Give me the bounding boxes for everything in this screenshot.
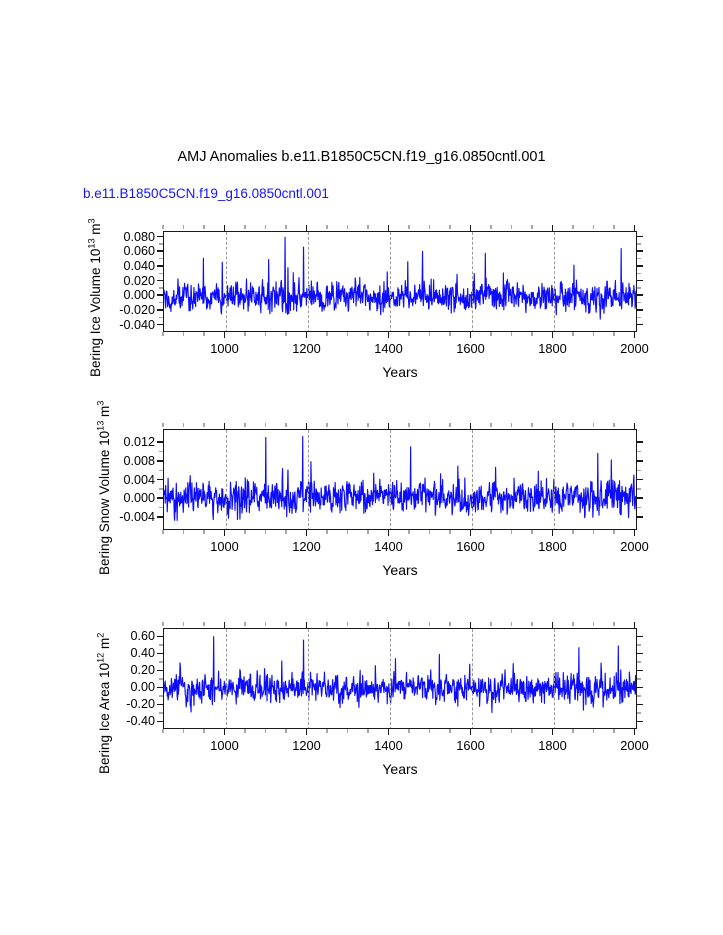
- x-tick-label: 2000: [620, 539, 648, 554]
- x-tick-minor: [593, 729, 594, 733]
- x-tick-minor: [613, 332, 614, 336]
- x-tick-minor: [572, 729, 573, 733]
- x-gridline: [472, 629, 473, 729]
- y-tick-major: [157, 460, 163, 462]
- x-tick-major: [552, 622, 554, 628]
- x-tick-minor: [285, 332, 286, 336]
- x-tick-minor: [449, 729, 450, 733]
- x-tick-minor: [285, 729, 286, 733]
- x-tick-major: [634, 729, 636, 735]
- x-tick-minor: [203, 423, 204, 427]
- data-series-line-0: [164, 232, 637, 332]
- y-tick-label: 0.60: [97, 629, 155, 643]
- x-tick-minor: [347, 729, 348, 733]
- x-tick-minor: [429, 332, 430, 336]
- y-tick-minor: [637, 273, 641, 274]
- y-tick-label: -0.20: [97, 697, 155, 711]
- y-tick-minor: [637, 507, 641, 508]
- x-tick-major: [470, 423, 472, 429]
- x-tick-minor: [203, 622, 204, 626]
- x-tick-minor: [203, 729, 204, 733]
- x-tick-major: [306, 423, 308, 429]
- y-tick-label: -0.040: [97, 318, 155, 332]
- x-tick-label: 1600: [456, 539, 484, 554]
- y-tick-major-right: [637, 670, 643, 672]
- x-tick-label: 1000: [210, 539, 238, 554]
- x-tick-major: [552, 332, 554, 338]
- y-tick-major: [157, 516, 163, 518]
- x-tick-minor: [203, 225, 204, 229]
- y-tick-label: 0.004: [97, 473, 155, 487]
- x-tick-major: [306, 729, 308, 735]
- y-tick-major-right: [637, 309, 643, 311]
- y-tick-label: 0.000: [97, 491, 155, 505]
- x-gridline: [390, 430, 391, 530]
- panel-bering-ice-area: [163, 628, 637, 729]
- x-tick-label: 2000: [620, 341, 648, 356]
- x-tick-minor: [408, 225, 409, 229]
- x-tick-major: [224, 729, 226, 735]
- y-tick-major-right: [637, 324, 643, 326]
- y-tick-major: [157, 636, 163, 638]
- x-tick-major: [388, 622, 390, 628]
- x-tick-minor: [326, 729, 327, 733]
- x-tick-minor: [613, 729, 614, 733]
- y-tick-minor: [159, 287, 163, 288]
- y-tick-major: [157, 721, 163, 723]
- y-tick-minor: [637, 258, 641, 259]
- x-tick-major: [470, 729, 472, 735]
- x-tick-label: 1800: [538, 341, 566, 356]
- x-tick-minor: [408, 332, 409, 336]
- y-tick-minor: [159, 258, 163, 259]
- plot-area-2[interactable]: [163, 628, 637, 729]
- x-tick-minor: [572, 622, 573, 626]
- x-tick-minor: [490, 423, 491, 427]
- y-tick-minor: [159, 317, 163, 318]
- x-tick-minor: [572, 530, 573, 534]
- x-tick-major: [470, 622, 472, 628]
- x-gridline: [226, 232, 227, 332]
- x-tick-label: 1800: [538, 738, 566, 753]
- x-tick-minor: [203, 332, 204, 336]
- x-tick-major: [470, 332, 472, 338]
- y-tick-major: [157, 236, 163, 238]
- x-tick-label: 1400: [374, 341, 402, 356]
- y-tick-minor: [159, 507, 163, 508]
- x-tick-major: [224, 225, 226, 231]
- y-tick-major-right: [637, 460, 643, 462]
- x-tick-minor: [490, 332, 491, 336]
- x-tick-minor: [593, 332, 594, 336]
- y-tick-major-right: [637, 294, 643, 296]
- x-tick-minor: [162, 332, 163, 336]
- x-tick-minor: [490, 622, 491, 626]
- x-tick-minor: [593, 225, 594, 229]
- x-tick-minor: [572, 423, 573, 427]
- x-tick-major: [470, 530, 472, 536]
- y-tick-minor: [159, 273, 163, 274]
- x-tick-minor: [531, 622, 532, 626]
- x-tick-minor: [531, 332, 532, 336]
- x-tick-minor: [347, 423, 348, 427]
- x-tick-minor: [265, 225, 266, 229]
- y-tick-major: [157, 309, 163, 311]
- x-tick-minor: [572, 332, 573, 336]
- y-tick-major-right: [637, 721, 643, 723]
- x-tick-minor: [449, 622, 450, 626]
- x-tick-major: [388, 530, 390, 536]
- x-tick-major: [224, 423, 226, 429]
- panel-bering-snow-volume: [163, 429, 637, 530]
- x-tick-label: 1200: [292, 539, 320, 554]
- y-tick-minor: [637, 302, 641, 303]
- x-tick-major: [388, 423, 390, 429]
- x-tick-minor: [429, 225, 430, 229]
- x-gridline: [308, 232, 309, 332]
- series-polyline: [164, 637, 637, 713]
- x-tick-minor: [285, 622, 286, 626]
- y-tick-major-right: [637, 236, 643, 238]
- x-tick-minor: [511, 622, 512, 626]
- x-gridline: [390, 232, 391, 332]
- x-tick-label: 1000: [210, 738, 238, 753]
- x-tick-major: [470, 225, 472, 231]
- x-tick-label: 1400: [374, 539, 402, 554]
- x-gridline: [472, 232, 473, 332]
- x-tick-major: [552, 225, 554, 231]
- x-tick-label: 1200: [292, 738, 320, 753]
- y-tick-major-right: [637, 653, 643, 655]
- y-tick-label: 0.008: [97, 454, 155, 468]
- x-tick-minor: [183, 423, 184, 427]
- y-tick-major-right: [637, 280, 643, 282]
- x-tick-minor: [511, 423, 512, 427]
- x-tick-major: [224, 530, 226, 536]
- y-tick-minor: [637, 678, 641, 679]
- x-tick-major: [634, 225, 636, 231]
- x-tick-minor: [429, 530, 430, 534]
- x-tick-minor: [613, 530, 614, 534]
- x-tick-minor: [429, 423, 430, 427]
- y-tick-major-right: [637, 265, 643, 267]
- x-tick-minor: [449, 332, 450, 336]
- x-tick-minor: [244, 225, 245, 229]
- x-tick-minor: [531, 423, 532, 427]
- x-tick-minor: [408, 622, 409, 626]
- x-tick-minor: [511, 225, 512, 229]
- x-tick-major: [552, 423, 554, 429]
- x-axis-label-1: Years: [382, 562, 417, 578]
- x-tick-major: [306, 225, 308, 231]
- x-tick-minor: [183, 622, 184, 626]
- x-tick-label: 1600: [456, 738, 484, 753]
- x-tick-label: 1600: [456, 341, 484, 356]
- x-tick-minor: [367, 622, 368, 626]
- y-tick-label: 0.020: [97, 274, 155, 288]
- x-tick-major: [388, 729, 390, 735]
- x-tick-minor: [244, 729, 245, 733]
- x-tick-minor: [162, 423, 163, 427]
- y-tick-major: [157, 687, 163, 689]
- x-tick-major: [634, 423, 636, 429]
- y-tick-major: [157, 280, 163, 282]
- x-tick-minor: [326, 225, 327, 229]
- x-tick-minor: [285, 225, 286, 229]
- x-tick-minor: [531, 530, 532, 534]
- plot-area-0[interactable]: [163, 231, 637, 332]
- figure-page: AMJ Anomalies b.e11.B1850C5CN.f19_g16.08…: [0, 0, 723, 935]
- x-tick-minor: [613, 622, 614, 626]
- x-tick-minor: [367, 225, 368, 229]
- x-tick-minor: [511, 729, 512, 733]
- x-tick-major: [306, 622, 308, 628]
- y-tick-label: 0.20: [97, 663, 155, 677]
- panel-bering-ice-volume: [163, 231, 637, 332]
- data-series-line-1: [164, 430, 637, 530]
- x-gridline: [226, 430, 227, 530]
- y-tick-minor: [159, 243, 163, 244]
- x-tick-minor: [265, 423, 266, 427]
- x-tick-minor: [326, 423, 327, 427]
- x-tick-minor: [347, 622, 348, 626]
- x-tick-major: [306, 530, 308, 536]
- x-tick-minor: [347, 530, 348, 534]
- x-tick-minor: [265, 729, 266, 733]
- y-tick-major-right: [637, 250, 643, 252]
- x-gridline: [554, 232, 555, 332]
- x-tick-minor: [408, 530, 409, 534]
- x-tick-minor: [593, 622, 594, 626]
- y-tick-minor: [637, 488, 641, 489]
- series-polyline: [164, 237, 637, 319]
- x-tick-minor: [162, 225, 163, 229]
- y-tick-label: 0.080: [97, 230, 155, 244]
- x-tick-minor: [326, 530, 327, 534]
- x-tick-label: 1200: [292, 341, 320, 356]
- x-tick-minor: [490, 530, 491, 534]
- y-tick-minor: [159, 302, 163, 303]
- x-tick-minor: [367, 729, 368, 733]
- x-tick-major: [634, 622, 636, 628]
- x-tick-minor: [285, 530, 286, 534]
- x-tick-minor: [613, 225, 614, 229]
- x-tick-major: [388, 225, 390, 231]
- x-tick-minor: [593, 423, 594, 427]
- x-tick-minor: [613, 423, 614, 427]
- x-tick-minor: [490, 729, 491, 733]
- x-tick-minor: [511, 530, 512, 534]
- x-tick-minor: [244, 423, 245, 427]
- series-legend-label: b.e11.B1850C5CN.f19_g16.0850cntl.001: [83, 186, 329, 201]
- x-tick-minor: [347, 332, 348, 336]
- x-tick-major: [634, 332, 636, 338]
- x-tick-minor: [490, 225, 491, 229]
- x-tick-minor: [244, 622, 245, 626]
- x-tick-minor: [326, 622, 327, 626]
- x-tick-minor: [162, 530, 163, 534]
- y-tick-minor: [637, 470, 641, 471]
- x-tick-major: [306, 332, 308, 338]
- y-tick-label: 0.00: [97, 680, 155, 694]
- y-tick-minor: [637, 644, 641, 645]
- x-gridline: [554, 430, 555, 530]
- plot-area-1[interactable]: [163, 429, 637, 530]
- y-tick-minor: [637, 287, 641, 288]
- y-tick-minor: [159, 695, 163, 696]
- x-tick-minor: [572, 225, 573, 229]
- x-axis-label-0: Years: [382, 364, 417, 380]
- series-polyline: [164, 437, 637, 521]
- x-tick-minor: [183, 225, 184, 229]
- x-tick-minor: [449, 530, 450, 534]
- x-tick-minor: [265, 622, 266, 626]
- x-tick-minor: [265, 332, 266, 336]
- y-tick-minor: [637, 695, 641, 696]
- x-tick-minor: [183, 332, 184, 336]
- x-tick-minor: [367, 423, 368, 427]
- x-tick-minor: [408, 423, 409, 427]
- y-tick-major-right: [637, 441, 643, 443]
- x-gridline: [308, 430, 309, 530]
- x-gridline: [472, 430, 473, 530]
- y-axis-label-1: Bering Snow Volume 1013 m3: [95, 400, 112, 574]
- x-tick-label: 1400: [374, 738, 402, 753]
- y-tick-label: 0.40: [97, 646, 155, 660]
- x-tick-minor: [203, 530, 204, 534]
- y-tick-major: [157, 250, 163, 252]
- x-gridline: [390, 629, 391, 729]
- x-tick-minor: [285, 423, 286, 427]
- y-tick-major-right: [637, 479, 643, 481]
- y-tick-minor: [637, 712, 641, 713]
- x-tick-minor: [429, 622, 430, 626]
- x-tick-minor: [326, 332, 327, 336]
- y-tick-major: [157, 265, 163, 267]
- y-tick-minor: [159, 470, 163, 471]
- x-tick-minor: [183, 729, 184, 733]
- x-tick-major: [224, 622, 226, 628]
- y-tick-minor: [637, 243, 641, 244]
- x-tick-minor: [244, 530, 245, 534]
- x-gridline: [226, 629, 227, 729]
- y-tick-major: [157, 704, 163, 706]
- y-tick-major: [157, 497, 163, 499]
- x-gridline: [554, 629, 555, 729]
- y-axis-label-text: Bering Snow Volume 1013 m3: [97, 400, 112, 574]
- y-tick-minor: [159, 678, 163, 679]
- y-tick-label: 0.000: [97, 288, 155, 302]
- x-tick-minor: [511, 332, 512, 336]
- data-series-line-2: [164, 629, 637, 729]
- x-tick-major: [224, 332, 226, 338]
- x-tick-minor: [367, 332, 368, 336]
- y-tick-major-right: [637, 636, 643, 638]
- y-tick-minor: [637, 317, 641, 318]
- y-tick-label: 0.060: [97, 244, 155, 258]
- x-tick-minor: [531, 729, 532, 733]
- y-tick-major-right: [637, 497, 643, 499]
- y-tick-major: [157, 670, 163, 672]
- x-tick-minor: [408, 729, 409, 733]
- x-tick-label: 1000: [210, 341, 238, 356]
- x-tick-label: 1800: [538, 539, 566, 554]
- x-tick-major: [634, 530, 636, 536]
- x-tick-minor: [429, 729, 430, 733]
- x-tick-label: 2000: [620, 738, 648, 753]
- y-tick-major: [157, 324, 163, 326]
- y-tick-minor: [159, 644, 163, 645]
- y-tick-minor: [159, 661, 163, 662]
- x-tick-minor: [265, 530, 266, 534]
- y-tick-major-right: [637, 704, 643, 706]
- x-gridline: [308, 629, 309, 729]
- y-tick-major: [157, 479, 163, 481]
- x-tick-minor: [244, 332, 245, 336]
- y-tick-minor: [637, 451, 641, 452]
- x-tick-minor: [162, 729, 163, 733]
- x-tick-major: [552, 729, 554, 735]
- y-tick-major-right: [637, 687, 643, 689]
- x-tick-minor: [593, 530, 594, 534]
- x-tick-minor: [531, 225, 532, 229]
- x-tick-major: [388, 332, 390, 338]
- x-tick-minor: [162, 622, 163, 626]
- x-tick-minor: [449, 225, 450, 229]
- y-tick-major-right: [637, 516, 643, 518]
- x-tick-minor: [449, 423, 450, 427]
- y-tick-label: -0.40: [97, 714, 155, 728]
- x-tick-major: [552, 530, 554, 536]
- x-tick-minor: [347, 225, 348, 229]
- x-axis-label-2: Years: [382, 761, 417, 777]
- y-tick-minor: [637, 661, 641, 662]
- y-tick-label: -0.020: [97, 303, 155, 317]
- y-tick-minor: [159, 712, 163, 713]
- y-tick-minor: [159, 488, 163, 489]
- y-tick-major: [157, 653, 163, 655]
- y-tick-major: [157, 294, 163, 296]
- x-tick-minor: [183, 530, 184, 534]
- x-tick-minor: [367, 530, 368, 534]
- y-tick-major: [157, 441, 163, 443]
- y-tick-minor: [159, 451, 163, 452]
- figure-title: AMJ Anomalies b.e11.B1850C5CN.f19_g16.08…: [0, 149, 723, 165]
- y-tick-label: 0.012: [97, 435, 155, 449]
- y-tick-label: 0.040: [97, 259, 155, 273]
- y-tick-label: -0.004: [97, 510, 155, 524]
